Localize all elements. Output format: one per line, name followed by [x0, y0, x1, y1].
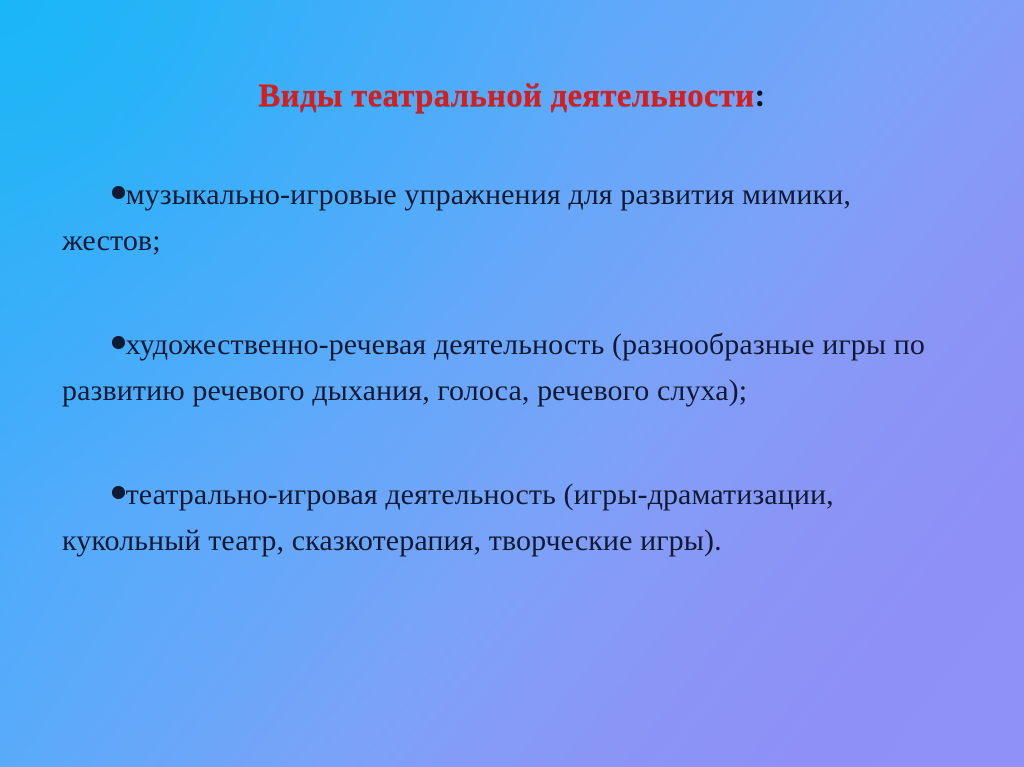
presentation-slide: Виды театральной деятельности: музыкальн…	[0, 0, 1024, 767]
list-item: художественно-речевая деятельность (разн…	[62, 322, 942, 414]
slide-content: Виды театральной деятельности: музыкальн…	[0, 0, 1024, 767]
list-item-text: театрально-игровая деятельность (игры-др…	[62, 478, 834, 557]
bullet-dot-icon	[112, 486, 125, 499]
bullet-list: музыкально-игровые упражнения для развит…	[62, 172, 942, 564]
list-item-text: музыкально-игровые упражнения для развит…	[62, 178, 851, 257]
bullet-dot-icon	[112, 186, 125, 199]
slide-title: Виды театральной деятельности:	[0, 78, 1024, 114]
bullet-dot-icon	[112, 336, 125, 349]
list-item: театрально-игровая деятельность (игры-др…	[62, 472, 942, 564]
slide-title-colon: :	[754, 78, 765, 114]
list-item-text: художественно-речевая деятельность (разн…	[62, 328, 925, 407]
slide-title-text: Виды театральной деятельности	[258, 78, 754, 114]
list-item: музыкально-игровые упражнения для развит…	[62, 172, 942, 264]
